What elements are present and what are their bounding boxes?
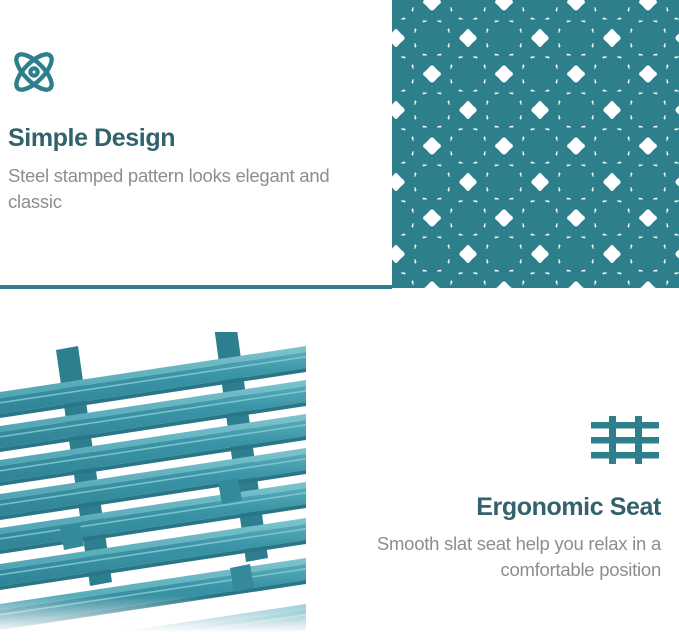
quatrefoil-flower-icon	[8, 46, 60, 98]
slat-seat-photo	[0, 332, 320, 632]
infographic-canvas: Simple Design Steel stamped pattern look…	[0, 0, 679, 641]
feature-description-ergonomic-seat: Smooth slat seat help you relax in a com…	[341, 531, 661, 584]
slat-grate-icon	[589, 414, 661, 470]
feature-block-simple-design: Simple Design Steel stamped pattern look…	[8, 46, 368, 215]
stamped-pattern-panel	[392, 0, 679, 288]
page-title-simple-design: Simple Design	[8, 124, 368, 153]
feature-description-simple-design: Steel stamped pattern looks elegant and …	[8, 163, 348, 216]
page-title-ergonomic-seat: Ergonomic Seat	[341, 493, 661, 522]
feature-block-ergonomic-seat: Ergonomic Seat Smooth slat seat help you…	[341, 414, 661, 583]
section-divider	[0, 285, 392, 289]
